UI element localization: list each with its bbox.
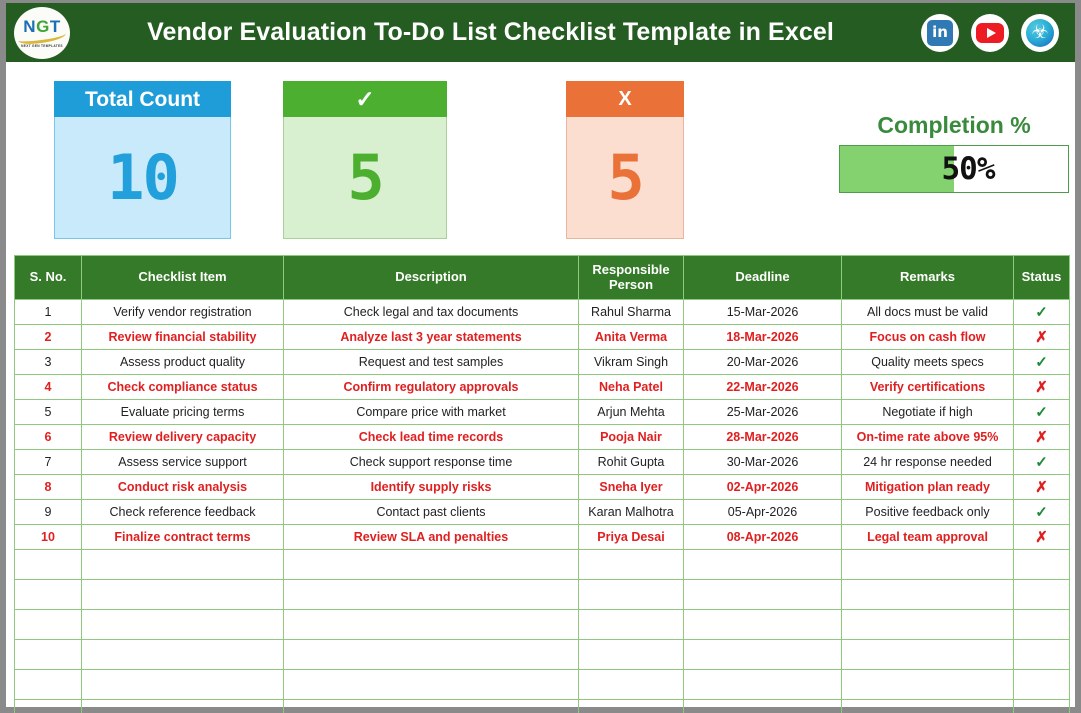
cell-empty[interactable] xyxy=(82,550,284,580)
table-row-empty[interactable] xyxy=(15,700,1070,713)
cell-item[interactable]: Check compliance status xyxy=(82,375,284,400)
cell-status[interactable]: ✗ xyxy=(1014,525,1070,550)
cell-empty[interactable] xyxy=(1014,700,1070,713)
cell-description[interactable]: Compare price with market xyxy=(284,400,579,425)
cell-empty[interactable] xyxy=(15,610,82,640)
cell-empty[interactable] xyxy=(579,700,684,713)
cell-status[interactable]: ✓ xyxy=(1014,400,1070,425)
column-header-person[interactable]: Responsible Person xyxy=(579,256,684,300)
cell-empty[interactable] xyxy=(842,700,1014,713)
cell-empty[interactable] xyxy=(684,550,842,580)
cell-empty[interactable] xyxy=(579,640,684,670)
table-row-empty[interactable] xyxy=(15,640,1070,670)
cell-description[interactable]: Request and test samples xyxy=(284,350,579,375)
cell-person[interactable]: Arjun Mehta xyxy=(579,400,684,425)
table-row-empty[interactable] xyxy=(15,550,1070,580)
cell-empty[interactable] xyxy=(15,580,82,610)
page-title: Vendor Evaluation To-Do List Checklist T… xyxy=(60,18,921,47)
table-row[interactable]: 2Review financial stabilityAnalyze last … xyxy=(15,325,1070,350)
linkedin-button[interactable]: in xyxy=(921,14,959,52)
cell-empty[interactable] xyxy=(82,640,284,670)
cell-remarks[interactable]: Focus on cash flow xyxy=(842,325,1014,350)
cell-deadline[interactable]: 05-Apr-2026 xyxy=(684,500,842,525)
table-row[interactable]: 1Verify vendor registrationCheck legal a… xyxy=(15,300,1070,325)
cell-remarks[interactable]: Positive feedback only xyxy=(842,500,1014,525)
cell-sno[interactable]: 10 xyxy=(15,525,82,550)
cell-sno[interactable]: 7 xyxy=(15,450,82,475)
cell-person[interactable]: Pooja Nair xyxy=(579,425,684,450)
table-row-empty[interactable] xyxy=(15,580,1070,610)
linkedin-icon: in xyxy=(927,20,953,46)
table-row[interactable]: 3Assess product qualityRequest and test … xyxy=(15,350,1070,375)
cell-empty[interactable] xyxy=(579,610,684,640)
cell-empty[interactable] xyxy=(82,580,284,610)
kpi-card-completed: ✓ 5 xyxy=(283,81,447,239)
table-header: S. No. Checklist Item Description Respon… xyxy=(15,256,1070,300)
cell-sno[interactable]: 2 xyxy=(15,325,82,350)
table-row[interactable]: 4Check compliance statusConfirm regulato… xyxy=(15,375,1070,400)
kpi-total-value: 10 xyxy=(54,117,231,239)
table-row[interactable]: 8Conduct risk analysisIdentify supply ri… xyxy=(15,475,1070,500)
cell-deadline[interactable]: 25-Mar-2026 xyxy=(684,400,842,425)
cell-remarks[interactable]: Verify certifications xyxy=(842,375,1014,400)
table-row[interactable]: 9Check reference feedbackContact past cl… xyxy=(15,500,1070,525)
cell-empty[interactable] xyxy=(684,580,842,610)
cell-empty[interactable] xyxy=(842,580,1014,610)
cell-sno[interactable]: 5 xyxy=(15,400,82,425)
youtube-button[interactable] xyxy=(971,14,1009,52)
cell-person[interactable]: Rohit Gupta xyxy=(579,450,684,475)
cell-description[interactable]: Identify supply risks xyxy=(284,475,579,500)
cell-description[interactable]: Contact past clients xyxy=(284,500,579,525)
cell-status[interactable]: ✗ xyxy=(1014,425,1070,450)
cell-item[interactable]: Verify vendor registration xyxy=(82,300,284,325)
cell-empty[interactable] xyxy=(1014,550,1070,580)
cell-item[interactable]: Review delivery capacity xyxy=(82,425,284,450)
cell-sno[interactable]: 6 xyxy=(15,425,82,450)
cell-deadline[interactable]: 30-Mar-2026 xyxy=(684,450,842,475)
completion-progress-bar: 50% xyxy=(839,145,1069,193)
cell-empty[interactable] xyxy=(1014,640,1070,670)
checklist-table-container: S. No. Checklist Item Description Respon… xyxy=(14,255,1069,713)
title-bar: NGT NEXT GEN TEMPLATES Vendor Evaluation… xyxy=(6,3,1075,62)
cell-empty[interactable] xyxy=(284,700,579,713)
cell-empty[interactable] xyxy=(15,640,82,670)
cell-person[interactable]: Vikram Singh xyxy=(579,350,684,375)
cell-empty[interactable] xyxy=(579,550,684,580)
column-header-deadline[interactable]: Deadline xyxy=(684,256,842,300)
cell-person[interactable]: Sneha Iyer xyxy=(579,475,684,500)
cell-empty[interactable] xyxy=(1014,580,1070,610)
cell-remarks[interactable]: Legal team approval xyxy=(842,525,1014,550)
cell-status[interactable]: ✗ xyxy=(1014,475,1070,500)
cell-remarks[interactable]: Mitigation plan ready xyxy=(842,475,1014,500)
table-row[interactable]: 6Review delivery capacityCheck lead time… xyxy=(15,425,1070,450)
cell-remarks[interactable]: On-time rate above 95% xyxy=(842,425,1014,450)
cell-status[interactable]: ✗ xyxy=(1014,375,1070,400)
table-row[interactable]: 10Finalize contract termsReview SLA and … xyxy=(15,525,1070,550)
cell-empty[interactable] xyxy=(284,610,579,640)
cell-empty[interactable] xyxy=(842,550,1014,580)
cross-icon: X xyxy=(566,81,684,117)
kpi-total-label: Total Count xyxy=(54,81,231,117)
cell-empty[interactable] xyxy=(82,700,284,713)
cell-person[interactable]: Priya Desai xyxy=(579,525,684,550)
cell-empty[interactable] xyxy=(284,640,579,670)
cell-empty[interactable] xyxy=(1014,670,1070,700)
cell-person[interactable]: Karan Malhotra xyxy=(579,500,684,525)
spreadsheet-page: NGT NEXT GEN TEMPLATES Vendor Evaluation… xyxy=(0,0,1081,713)
cell-sno[interactable]: 3 xyxy=(15,350,82,375)
cell-status[interactable]: ✗ xyxy=(1014,325,1070,350)
cell-empty[interactable] xyxy=(684,670,842,700)
cell-sno[interactable]: 4 xyxy=(15,375,82,400)
cell-empty[interactable] xyxy=(82,670,284,700)
cell-description[interactable]: Check legal and tax documents xyxy=(284,300,579,325)
table-row-empty[interactable] xyxy=(15,670,1070,700)
logo-tagline: NEXT GEN TEMPLATES xyxy=(21,44,63,48)
social-links: in ☣ xyxy=(921,14,1059,52)
check-icon: ✓ xyxy=(283,81,447,117)
cell-description[interactable]: Analyze last 3 year statements xyxy=(284,325,579,350)
table-row[interactable]: 5Evaluate pricing termsCompare price wit… xyxy=(15,400,1070,425)
cell-description[interactable]: Review SLA and penalties xyxy=(284,525,579,550)
table-row[interactable]: 7Assess service supportCheck support res… xyxy=(15,450,1070,475)
globe-icon: ☣ xyxy=(1026,19,1054,47)
page-title-main: Vendor Evaluation To-Do List Checklist T… xyxy=(147,18,738,46)
kpi-card-pending: X 5 xyxy=(566,81,684,239)
column-header-sno[interactable]: S. No. xyxy=(15,256,82,300)
cell-status[interactable]: ✓ xyxy=(1014,450,1070,475)
completion-widget: Completion % 50% xyxy=(839,114,1069,193)
cell-empty[interactable] xyxy=(842,670,1014,700)
cell-remarks[interactable]: Negotiate if high xyxy=(842,400,1014,425)
cell-description[interactable]: Check lead time records xyxy=(284,425,579,450)
youtube-icon xyxy=(976,23,1004,43)
page-title-suffix: in Excel xyxy=(739,18,834,46)
cell-deadline[interactable]: 28-Mar-2026 xyxy=(684,425,842,450)
cell-empty[interactable] xyxy=(684,640,842,670)
cell-deadline[interactable]: 20-Mar-2026 xyxy=(684,350,842,375)
cell-deadline[interactable]: 15-Mar-2026 xyxy=(684,300,842,325)
cell-empty[interactable] xyxy=(15,550,82,580)
completion-percent-text: 50% xyxy=(840,151,1068,187)
cell-item[interactable]: Review financial stability xyxy=(82,325,284,350)
cell-person[interactable]: Rahul Sharma xyxy=(579,300,684,325)
cell-empty[interactable] xyxy=(82,610,284,640)
cell-item[interactable]: Assess product quality xyxy=(82,350,284,375)
column-header-status[interactable]: Status xyxy=(1014,256,1070,300)
cell-item[interactable]: Check reference feedback xyxy=(82,500,284,525)
cell-status[interactable]: ✓ xyxy=(1014,350,1070,375)
table-body: 1Verify vendor registrationCheck legal a… xyxy=(15,300,1070,713)
cell-deadline[interactable]: 22-Mar-2026 xyxy=(684,375,842,400)
column-header-remarks[interactable]: Remarks xyxy=(842,256,1014,300)
checklist-table: S. No. Checklist Item Description Respon… xyxy=(14,255,1070,713)
cell-description[interactable]: Confirm regulatory approvals xyxy=(284,375,579,400)
cell-deadline[interactable]: 02-Apr-2026 xyxy=(684,475,842,500)
cell-remarks[interactable]: 24 hr response needed xyxy=(842,450,1014,475)
cell-empty[interactable] xyxy=(284,670,579,700)
cell-empty[interactable] xyxy=(15,670,82,700)
cell-sno[interactable]: 1 xyxy=(15,300,82,325)
cell-person[interactable]: Anita Verma xyxy=(579,325,684,350)
cell-item[interactable]: Evaluate pricing terms xyxy=(82,400,284,425)
cell-status[interactable]: ✓ xyxy=(1014,500,1070,525)
cell-item[interactable]: Finalize contract terms xyxy=(82,525,284,550)
website-button[interactable]: ☣ xyxy=(1021,14,1059,52)
column-header-item[interactable]: Checklist Item xyxy=(82,256,284,300)
cell-empty[interactable] xyxy=(579,670,684,700)
ngt-logo: NGT NEXT GEN TEMPLATES xyxy=(14,7,70,59)
table-row-empty[interactable] xyxy=(15,610,1070,640)
kpi-completed-value: 5 xyxy=(283,117,447,239)
kpi-pending-value: 5 xyxy=(566,117,684,239)
cell-empty[interactable] xyxy=(284,550,579,580)
cell-empty[interactable] xyxy=(684,610,842,640)
cell-empty[interactable] xyxy=(15,700,82,713)
cell-person[interactable]: Neha Patel xyxy=(579,375,684,400)
cell-remarks[interactable]: All docs must be valid xyxy=(842,300,1014,325)
cell-sno[interactable]: 8 xyxy=(15,475,82,500)
column-header-desc[interactable]: Description xyxy=(284,256,579,300)
cell-sno[interactable]: 9 xyxy=(15,500,82,525)
completion-label: Completion % xyxy=(839,114,1069,137)
cell-empty[interactable] xyxy=(684,700,842,713)
cell-empty[interactable] xyxy=(1014,610,1070,640)
cell-status[interactable]: ✓ xyxy=(1014,300,1070,325)
cell-deadline[interactable]: 18-Mar-2026 xyxy=(684,325,842,350)
cell-deadline[interactable]: 08-Apr-2026 xyxy=(684,525,842,550)
kpi-card-total-count: Total Count 10 xyxy=(54,81,231,239)
header-row: S. No. Checklist Item Description Respon… xyxy=(15,256,1070,300)
cell-item[interactable]: Assess service support xyxy=(82,450,284,475)
cell-empty[interactable] xyxy=(842,610,1014,640)
cell-empty[interactable] xyxy=(842,640,1014,670)
cell-item[interactable]: Conduct risk analysis xyxy=(82,475,284,500)
cell-empty[interactable] xyxy=(579,580,684,610)
kpi-band: Total Count 10 ✓ 5 X 5 Completion % 50% xyxy=(6,62,1075,248)
cell-empty[interactable] xyxy=(284,580,579,610)
cell-remarks[interactable]: Quality meets specs xyxy=(842,350,1014,375)
cell-description[interactable]: Check support response time xyxy=(284,450,579,475)
